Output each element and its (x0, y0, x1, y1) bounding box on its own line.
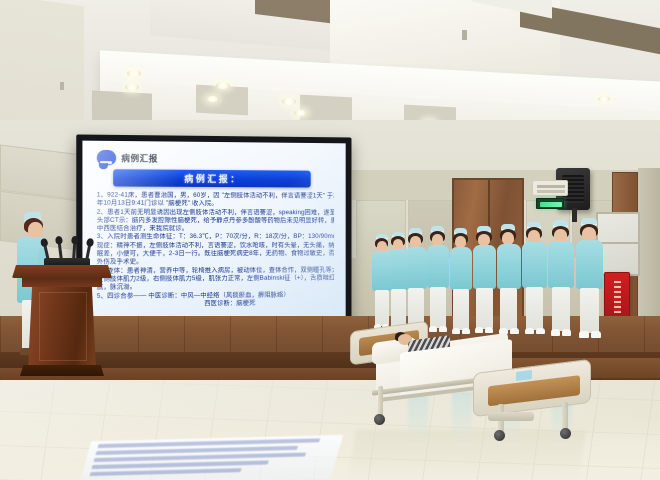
wall-column-right (638, 168, 660, 326)
nurse-gown (497, 244, 521, 289)
speech-bubble-icon (97, 150, 116, 165)
bed-caster-wheel (374, 414, 385, 425)
wall-sign (532, 180, 568, 196)
ceiling-downlight (127, 70, 141, 77)
nurse-gown (548, 241, 574, 288)
sprinkler-head-icon (60, 82, 64, 90)
nurse-gown (450, 247, 472, 290)
conference-hall-scene: 病例汇报 病例汇报： 1、922-41床，患者曹治国，男，60岁，因 "左侧肢体… (0, 0, 660, 480)
ceiling-downlight (282, 98, 296, 105)
lectern-base (20, 365, 104, 376)
bed-crank-handle[interactable] (488, 412, 534, 421)
nurse-gown (372, 251, 392, 291)
ceiling-downlight (206, 96, 219, 102)
ceiling-downlight (216, 82, 230, 89)
slide-body: 1、922-41床，患者曹治国，男，60岁，因 "左侧肢体活动不利，伴言语謇涩1… (97, 191, 334, 309)
nurse-shoe (591, 331, 601, 338)
ceiling-downlight (294, 110, 307, 116)
bed-caster-wheel (494, 430, 505, 441)
slide-line: 头部CT示：脑内多发腔隙性脑梗死，给予静点丹参多酚酸等药物后未见明显好转，患者为… (97, 217, 334, 226)
nurse-head (582, 227, 596, 241)
slide-header-label: 病例汇报 (121, 152, 158, 164)
slide-line: 西医诊断：脑梗死 (97, 299, 334, 309)
slide-surface: 病例汇报 病例汇报： 1、922-41床，患者曹治国，男，60岁，因 "左侧肢体… (82, 141, 345, 328)
fire-extinguisher-cabinet-icon (604, 272, 630, 320)
bed-leg (378, 386, 383, 416)
nurse-gown (522, 242, 547, 288)
nurse-gown (576, 240, 603, 289)
presentation-slide: 病例汇报 病例汇报： 1、922-41床，患者曹治国，男，60岁，因 "左侧肢体… (82, 141, 345, 328)
presenter-head (28, 222, 43, 238)
slide-title-text: 病例汇报： (184, 172, 241, 185)
bed-caster-wheel (560, 428, 571, 439)
emergency-exit-sign-icon (536, 198, 564, 209)
hospital-bed[interactable] (348, 320, 588, 440)
nurse-gown (427, 245, 449, 288)
slide-header: 病例汇报 (97, 150, 338, 167)
slide-line: 3、入院时患者测生命体征：T：36.3℃，P：70次/分，R：18次/分，BP：… (97, 233, 334, 241)
lectern-body (28, 287, 96, 369)
nurse-gown (473, 245, 496, 289)
sprinkler-head-icon (462, 30, 467, 40)
ceiling-downlight (598, 96, 610, 102)
slide-line: 中西医结合治疗，来我院就诊。 (97, 225, 334, 233)
bed-label-tag (516, 370, 532, 381)
lectern-neck (22, 278, 102, 287)
projection-screen[interactable]: 病例汇报 病例汇报： 1、922-41床，患者曹治国，男，60岁，因 "左侧肢体… (76, 134, 351, 333)
soffit-step (196, 85, 248, 116)
lectern[interactable] (18, 265, 106, 375)
lectern-top (12, 265, 112, 278)
ceiling-downlight (125, 84, 139, 91)
slide-reflection (79, 435, 343, 480)
slide-title-banner: 病例汇报： (113, 169, 311, 187)
